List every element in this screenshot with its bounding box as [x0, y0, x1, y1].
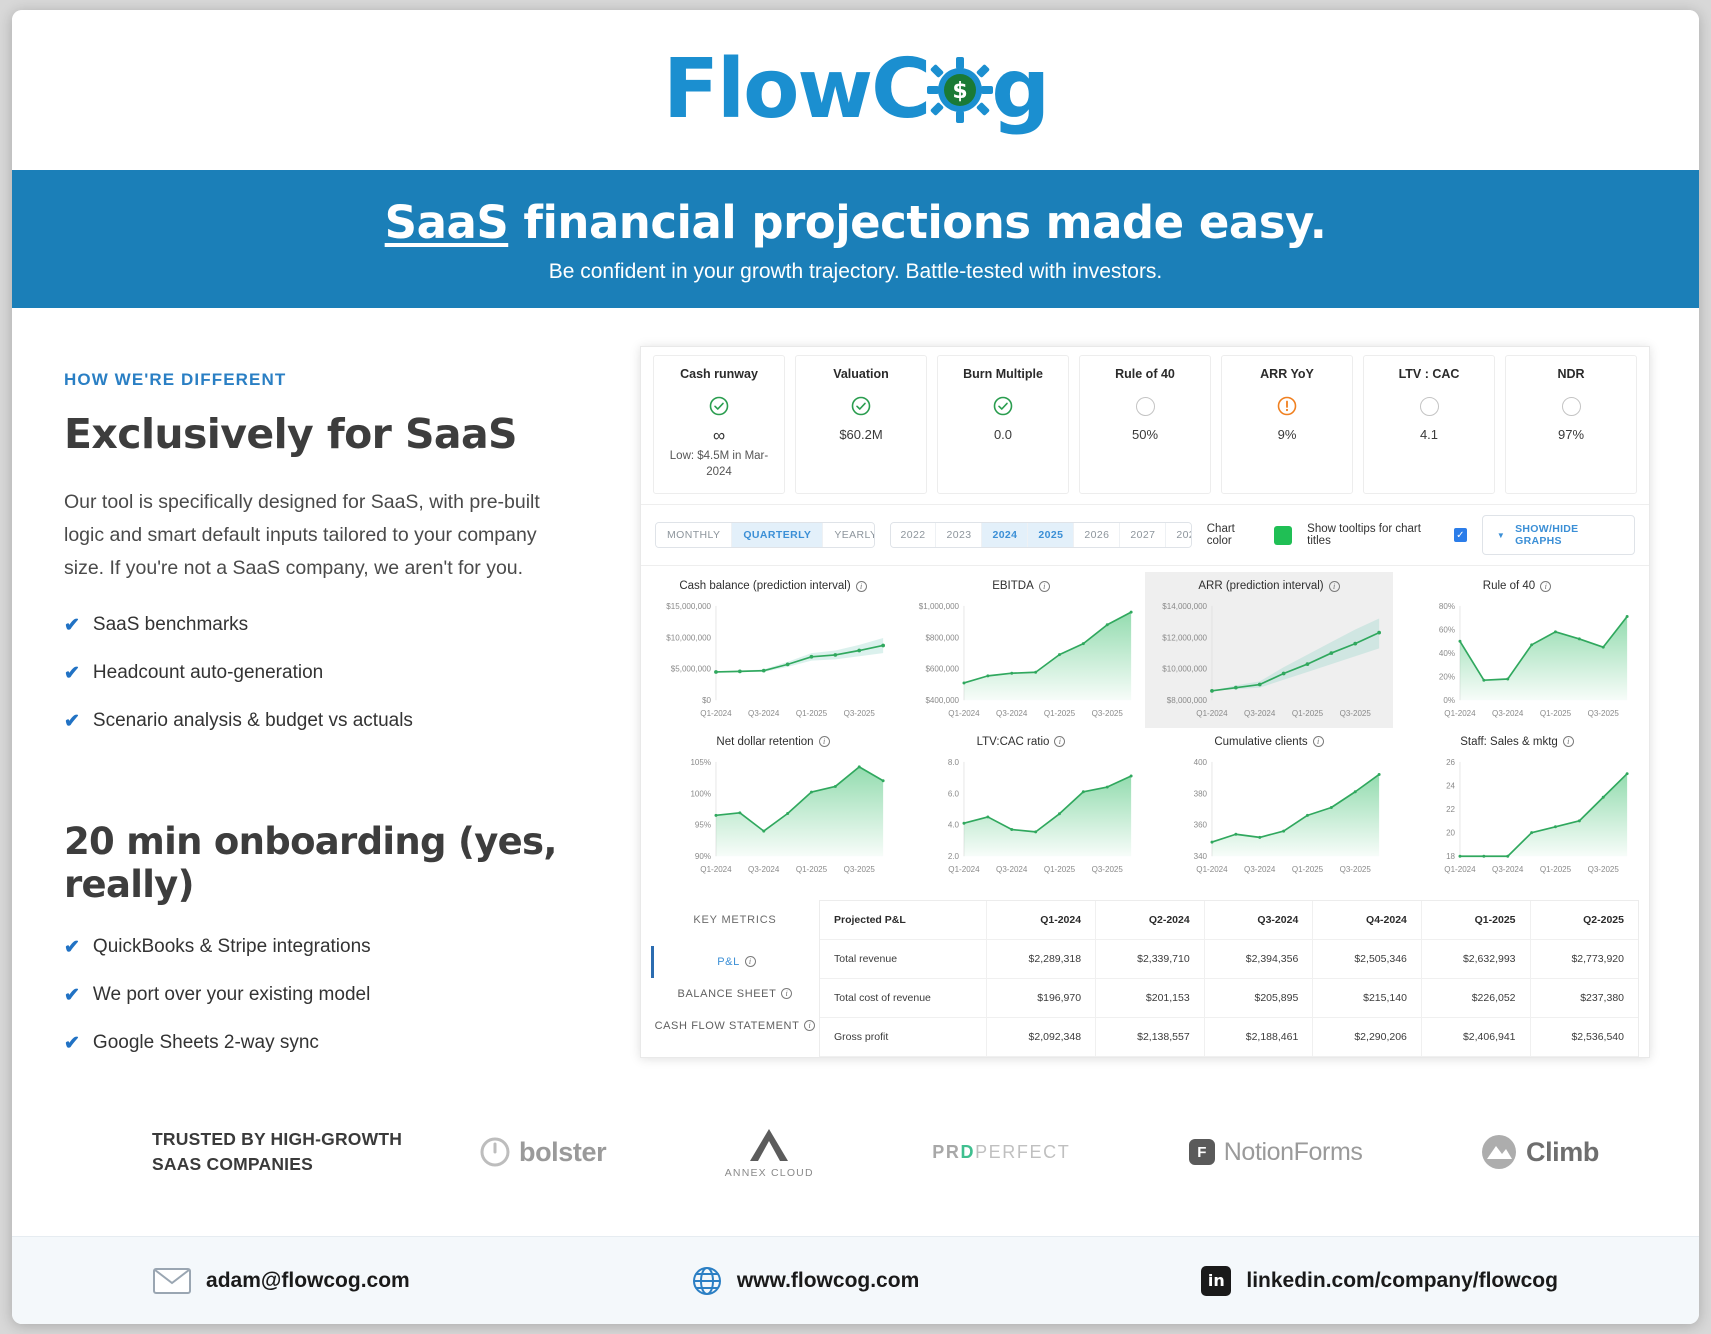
period-option-yearly[interactable]: YEARLY — [823, 523, 874, 547]
year-option-2025[interactable]: 2025 — [1028, 523, 1074, 547]
feature-list-2: ✔QuickBooks & Stripe integrations ✔We po… — [64, 936, 576, 1054]
trusted-by-label: TRUSTED BY HIGH-GROWTH SAAS COMPANIES — [152, 1127, 452, 1178]
svg-text:Q3-2025: Q3-2025 — [844, 865, 876, 874]
pl-table: Projected P&LQ1-2024Q2-2024Q3-2024Q4-202… — [820, 901, 1638, 1057]
check-icon: ✔ — [64, 1034, 80, 1053]
svg-text:$14,000,000: $14,000,000 — [1162, 602, 1207, 611]
svg-text:Q1-2025: Q1-2025 — [1540, 709, 1572, 718]
svg-text:Q1-2024: Q1-2024 — [948, 865, 980, 874]
check-icon: ✔ — [64, 616, 80, 635]
chart-title: Rule of 40 — [1483, 580, 1535, 592]
chart-title-row: Rule of 40i — [1399, 580, 1635, 592]
chart-card[interactable]: Rule of 40i0%20%40%60%80%Q1-2024Q3-2024Q… — [1393, 572, 1641, 728]
svg-text:60%: 60% — [1439, 625, 1455, 634]
check-icon: ✔ — [64, 986, 80, 1005]
year-option-2022[interactable]: 2022 — [891, 523, 937, 547]
feature-list-1: ✔SaaS benchmarks ✔Headcount auto-generat… — [64, 614, 576, 732]
chart-plot: 340360380400Q1-2024Q3-2024Q1-2025Q3-2025 — [1151, 754, 1387, 880]
spacer — [64, 758, 576, 820]
chart-title-row: LTV:CAC ratioi — [903, 736, 1139, 748]
table-cell: $2,092,348 — [987, 1017, 1096, 1056]
svg-text:340: 340 — [1194, 852, 1208, 861]
svg-text:Q3-2025: Q3-2025 — [844, 709, 876, 718]
svg-text:0%: 0% — [1443, 696, 1455, 705]
svg-text:Q3-2024: Q3-2024 — [1244, 865, 1276, 874]
svg-text:105%: 105% — [690, 758, 711, 767]
chart-title-row: Cumulative clientsi — [1151, 736, 1387, 748]
kpi-card[interactable]: ARR YoY9% — [1221, 355, 1353, 494]
svg-text:18: 18 — [1446, 852, 1455, 861]
table-row-label: Total revenue — [820, 939, 987, 978]
check-icon: ✔ — [64, 712, 80, 731]
kpi-value: $60.2M — [800, 427, 922, 442]
table-column-header: Q1-2024 — [987, 901, 1096, 940]
kpi-strip: Cash runway∞Low: $4.5M in Mar-2024Valuat… — [641, 347, 1649, 505]
feature-label: We port over your existing model — [93, 984, 370, 1006]
table-column-header: Q3-2024 — [1204, 901, 1313, 940]
kpi-title: ARR YoY — [1226, 367, 1348, 381]
year-option-2023[interactable]: 2023 — [936, 523, 982, 547]
hero-headline-underlined: SaaS — [385, 196, 509, 249]
year-option-2024[interactable]: 2024 — [982, 523, 1028, 547]
left-column: HOW WE'RE DIFFERENT Exclusively for SaaS… — [12, 308, 632, 1088]
table-row-label: Total cost of revenue — [820, 978, 987, 1017]
section-heading-2: 20 min onboarding (yes, really) — [64, 820, 576, 906]
main-content: HOW WE'RE DIFFERENT Exclusively for SaaS… — [12, 308, 1699, 1088]
kpi-status-icon — [658, 393, 780, 419]
svg-text:100%: 100% — [690, 789, 711, 798]
footer-website-text: www.flowcog.com — [737, 1269, 919, 1293]
info-icon[interactable]: i — [1329, 581, 1340, 592]
table-cell: $2,394,356 — [1204, 939, 1313, 978]
section-paragraph: Our tool is specifically designed for Sa… — [64, 486, 576, 584]
globe-icon — [692, 1266, 722, 1296]
partner-name-part1: PR — [932, 1142, 960, 1162]
svg-text:Q1-2024: Q1-2024 — [1444, 709, 1476, 718]
pl-table-wrapper: Projected P&LQ1-2024Q2-2024Q3-2024Q4-202… — [819, 900, 1639, 1057]
list-item: ✔SaaS benchmarks — [64, 614, 576, 636]
svg-text:Q3-2025: Q3-2025 — [1340, 865, 1372, 874]
contact-footer: adam@flowcog.com www.flowcog.com in link… — [12, 1236, 1699, 1324]
table-row-label: Gross profit — [820, 1017, 987, 1056]
kpi-value: 97% — [1510, 427, 1632, 442]
table-cell: $205,895 — [1204, 978, 1313, 1017]
tooltip-checkbox[interactable]: ✓ — [1454, 528, 1467, 542]
list-item: ✔Scenario analysis & budget vs actuals — [64, 710, 576, 732]
footer-email-text: adam@flowcog.com — [206, 1269, 410, 1293]
tooltip-toggle-label: Show tooltips for chart titles — [1307, 523, 1439, 547]
hero-headline: SaaS financial projections made easy. — [12, 196, 1699, 249]
svg-text:Q1-2024: Q1-2024 — [700, 709, 732, 718]
svg-text:95%: 95% — [695, 821, 711, 830]
chart-color-swatch[interactable] — [1274, 526, 1292, 545]
svg-text:Q3-2024: Q3-2024 — [1492, 865, 1524, 874]
chart-plot: $400,000$600,000$800,000$1,000,000Q1-202… — [903, 598, 1139, 724]
info-icon[interactable]: i — [781, 988, 792, 999]
logo-text-part2: g — [991, 49, 1048, 131]
svg-text:Q3-2025: Q3-2025 — [1588, 709, 1620, 718]
kpi-card[interactable]: Cash runway∞Low: $4.5M in Mar-2024 — [653, 355, 785, 494]
check-icon: ✔ — [64, 938, 80, 957]
chart-title: ARR (prediction interval) — [1198, 580, 1323, 592]
svg-text:$10,000,000: $10,000,000 — [666, 633, 711, 642]
chart-card[interactable]: Cumulative clientsi340360380400Q1-2024Q3… — [1145, 728, 1393, 884]
info-icon[interactable]: i — [1563, 736, 1574, 747]
table-column-header: Q2-2025 — [1530, 901, 1638, 940]
svg-text:400: 400 — [1194, 758, 1208, 767]
chart-card[interactable]: EBITDAi$400,000$600,000$800,000$1,000,00… — [897, 572, 1145, 728]
trusted-by-section: TRUSTED BY HIGH-GROWTH SAAS COMPANIES bo… — [12, 1088, 1699, 1208]
period-option-quarterly[interactable]: QUARTERLY — [732, 523, 823, 547]
key-metrics-nav: KEY METRICS P&LiBALANCE SHEETiCASH FLOW … — [651, 900, 819, 1057]
table-row: Gross profit$2,092,348$2,138,557$2,188,4… — [820, 1017, 1638, 1056]
kpi-status-icon — [800, 393, 922, 419]
list-item: ✔We port over your existing model — [64, 984, 576, 1006]
chart-plot: 1820222426Q1-2024Q3-2024Q1-2025Q3-2025 — [1399, 754, 1635, 880]
table-cell: $2,289,318 — [987, 939, 1096, 978]
chart-title: Net dollar retention — [716, 736, 813, 748]
notionforms-badge-icon: F — [1189, 1139, 1215, 1165]
svg-text:Q3-2024: Q3-2024 — [996, 709, 1028, 718]
svg-text:90%: 90% — [695, 852, 711, 861]
kpi-status-icon — [1084, 393, 1206, 419]
chart-plot: 2.04.06.08.0Q1-2024Q3-2024Q1-2025Q3-2025 — [903, 754, 1139, 880]
period-toggle-group[interactable]: MONTHLYQUARTERLYYEARLY — [655, 522, 875, 548]
chart-card[interactable]: LTV:CAC ratioi2.04.06.08.0Q1-2024Q3-2024… — [897, 728, 1145, 884]
table-cell: $237,380 — [1530, 978, 1638, 1017]
envelope-icon — [153, 1267, 191, 1295]
chart-plot: 90%95%100%105%Q1-2024Q3-2024Q1-2025Q3-20… — [655, 754, 891, 880]
table-cell: $2,773,920 — [1530, 939, 1638, 978]
kpi-value: ∞ — [658, 427, 780, 444]
svg-text:Q1-2024: Q1-2024 — [1444, 865, 1476, 874]
partner-name: bolster — [519, 1137, 606, 1168]
table-row: Total revenue$2,289,318$2,339,710$2,394,… — [820, 939, 1638, 978]
svg-text:$10,000,000: $10,000,000 — [1162, 665, 1207, 674]
svg-text:Q3-2024: Q3-2024 — [1244, 709, 1276, 718]
key-metrics-section: KEY METRICS P&LiBALANCE SHEETiCASH FLOW … — [641, 888, 1649, 1057]
chart-card[interactable]: Staff: Sales & mktgi1820222426Q1-2024Q3-… — [1393, 728, 1641, 884]
svg-text:Q1-2025: Q1-2025 — [1044, 709, 1076, 718]
table-cell: $201,153 — [1096, 978, 1205, 1017]
kpi-status-icon — [1510, 393, 1632, 419]
svg-text:20: 20 — [1446, 829, 1455, 838]
kpi-status-icon — [1368, 393, 1490, 419]
key-metrics-items: P&LiBALANCE SHEETiCASH FLOW STATEMENTi — [651, 946, 819, 1042]
kpi-value: 0.0 — [942, 427, 1064, 442]
partner-logo-notionforms: F NotionForms — [1189, 1138, 1363, 1167]
chart-title-row: Cash balance (prediction interval)i — [655, 580, 891, 592]
chart-plot: $8,000,000$10,000,000$12,000,000$14,000,… — [1151, 598, 1387, 724]
kpi-value: 4.1 — [1368, 427, 1490, 442]
table-column-header: Q4-2024 — [1313, 901, 1422, 940]
list-item: ✔QuickBooks & Stripe integrations — [64, 936, 576, 958]
key-metric-item-cash-flow-statement[interactable]: CASH FLOW STATEMENTi — [651, 1010, 819, 1042]
feature-label: Headcount auto-generation — [93, 662, 323, 684]
partner-name-part2: D — [960, 1142, 975, 1162]
section-heading: Exclusively for SaaS — [64, 410, 576, 458]
svg-text:Q1-2024: Q1-2024 — [1196, 865, 1228, 874]
footer-website[interactable]: www.flowcog.com — [692, 1266, 919, 1296]
svg-text:Q1-2025: Q1-2025 — [796, 865, 828, 874]
info-icon[interactable]: i — [856, 581, 867, 592]
linkedin-icon: in — [1201, 1266, 1231, 1296]
key-metrics-header: KEY METRICS — [651, 914, 819, 926]
chart-title: Cumulative clients — [1214, 736, 1307, 748]
kpi-value: 9% — [1226, 427, 1348, 442]
info-icon[interactable]: i — [1039, 581, 1050, 592]
chart-plot: $0$5,000,000$10,000,000$15,000,000Q1-202… — [655, 598, 891, 724]
product-screenshot: Cash runway∞Low: $4.5M in Mar-2024Valuat… — [640, 346, 1650, 1058]
svg-text:$12,000,000: $12,000,000 — [1162, 633, 1207, 642]
list-item: ✔Google Sheets 2-way sync — [64, 1032, 576, 1054]
key-metric-label: BALANCE SHEET — [678, 988, 777, 1000]
svg-text:$0: $0 — [702, 696, 711, 705]
chart-title: Staff: Sales & mktg — [1460, 736, 1558, 748]
kpi-card[interactable]: LTV : CAC4.1 — [1363, 355, 1495, 494]
partner-name: NotionForms — [1224, 1138, 1363, 1167]
table-body: Total revenue$2,289,318$2,339,710$2,394,… — [820, 939, 1638, 1056]
partner-logos: bolster ANNEX CLOUD PRDPERFECT F NotionF… — [480, 1126, 1639, 1179]
svg-text:Q3-2024: Q3-2024 — [748, 709, 780, 718]
chart-title-row: EBITDAi — [903, 580, 1139, 592]
climb-mountain-icon — [1481, 1134, 1517, 1170]
svg-text:$600,000: $600,000 — [925, 665, 959, 674]
partner-name: ANNEX CLOUD — [725, 1167, 814, 1179]
chart-card[interactable]: ARR (prediction interval)i$8,000,000$10,… — [1145, 572, 1393, 728]
svg-text:6.0: 6.0 — [948, 789, 960, 798]
key-metric-label: CASH FLOW STATEMENT — [655, 1020, 800, 1032]
show-hide-graphs-dropdown[interactable]: ▼ SHOW/HIDE GRAPHS — [1482, 515, 1635, 555]
svg-text:Q1-2025: Q1-2025 — [1292, 709, 1324, 718]
table-column-header: Q2-2024 — [1096, 901, 1205, 940]
kpi-title: Burn Multiple — [942, 367, 1064, 381]
svg-text:Q3-2024: Q3-2024 — [1492, 709, 1524, 718]
bolster-mark-icon — [480, 1137, 510, 1167]
svg-text:Q1-2025: Q1-2025 — [1044, 865, 1076, 874]
hero-subheadline: Be confident in your growth trajectory. … — [12, 260, 1699, 284]
kpi-card[interactable]: Burn Multiple0.0 — [937, 355, 1069, 494]
feature-label: Google Sheets 2-way sync — [93, 1032, 319, 1054]
info-icon[interactable]: i — [1054, 736, 1065, 747]
trusted-by-line1: TRUSTED BY HIGH-GROWTH — [152, 1127, 452, 1152]
annex-triangle-icon — [747, 1126, 791, 1164]
svg-text:$1,000,000: $1,000,000 — [919, 602, 960, 611]
kpi-title: LTV : CAC — [1368, 367, 1490, 381]
table-cell: $2,632,993 — [1421, 939, 1530, 978]
svg-text:20%: 20% — [1439, 673, 1455, 682]
kpi-card[interactable]: NDR97% — [1505, 355, 1637, 494]
kpi-card[interactable]: Rule of 4050% — [1079, 355, 1211, 494]
key-metric-item-p-l[interactable]: P&Li — [651, 946, 819, 978]
year-option-2027[interactable]: 2027 — [1120, 523, 1166, 547]
chevron-down-icon: ▼ — [1497, 531, 1505, 540]
kpi-subtext: Low: $4.5M in Mar-2024 — [658, 449, 780, 480]
svg-text:24: 24 — [1446, 781, 1455, 790]
svg-text:$15,000,000: $15,000,000 — [666, 602, 711, 611]
partner-logo-bolster: bolster — [480, 1137, 606, 1168]
show-hide-graphs-label: SHOW/HIDE GRAPHS — [1515, 523, 1620, 547]
table-corner-header: Projected P&L — [820, 901, 987, 940]
partner-logo-annex-cloud: ANNEX CLOUD — [725, 1126, 814, 1179]
table-cell: $2,188,461 — [1204, 1017, 1313, 1056]
year-option-2026[interactable]: 2026 — [1074, 523, 1120, 547]
right-column: Cash runway∞Low: $4.5M in Mar-2024Valuat… — [632, 308, 1699, 1088]
svg-text:$8,000,000: $8,000,000 — [1167, 696, 1208, 705]
table-cell: $2,138,557 — [1096, 1017, 1205, 1056]
key-metric-item-balance-sheet[interactable]: BALANCE SHEETi — [651, 978, 819, 1010]
period-option-monthly[interactable]: MONTHLY — [656, 523, 732, 547]
status-ring-icon — [1136, 397, 1155, 416]
kpi-status-icon — [1226, 393, 1348, 419]
info-icon[interactable]: i — [804, 1020, 815, 1031]
table-row: Total cost of revenue$196,970$201,153$20… — [820, 978, 1638, 1017]
svg-text:Q3-2025: Q3-2025 — [1588, 865, 1620, 874]
footer-linkedin-text: linkedin.com/company/flowcog — [1246, 1269, 1558, 1293]
status-ring-icon — [1420, 397, 1439, 416]
kpi-title: NDR — [1510, 367, 1632, 381]
svg-text:Q3-2025: Q3-2025 — [1340, 709, 1372, 718]
chart-card[interactable]: Cash balance (prediction interval)i$0$5,… — [649, 572, 897, 728]
svg-text:360: 360 — [1194, 821, 1208, 830]
kpi-value: 50% — [1084, 427, 1206, 442]
kpi-status-icon — [942, 393, 1064, 419]
svg-text:Q3-2025: Q3-2025 — [1092, 865, 1124, 874]
footer-linkedin[interactable]: in linkedin.com/company/flowcog — [1201, 1266, 1558, 1296]
kpi-card[interactable]: Valuation$60.2M — [795, 355, 927, 494]
svg-text:40%: 40% — [1439, 649, 1455, 658]
svg-text:$: $ — [953, 79, 968, 104]
table-header-row: Projected P&LQ1-2024Q2-2024Q3-2024Q4-202… — [820, 901, 1638, 940]
dashboard-toolbar: MONTHLYQUARTERLYYEARLY 20222023202420252… — [641, 505, 1649, 566]
svg-text:Q1-2024: Q1-2024 — [700, 865, 732, 874]
svg-text:Q1-2025: Q1-2025 — [796, 709, 828, 718]
hero-banner: SaaS financial projections made easy. Be… — [12, 170, 1699, 308]
chart-title-row: Staff: Sales & mktgi — [1399, 736, 1635, 748]
poster-page: FlowC — [12, 10, 1699, 1324]
logo-bar: FlowC — [12, 10, 1699, 170]
chart-title: Cash balance (prediction interval) — [679, 580, 850, 592]
svg-text:Q3-2024: Q3-2024 — [996, 865, 1028, 874]
section-kicker: HOW WE'RE DIFFERENT — [64, 370, 576, 390]
table-cell: $2,536,540 — [1530, 1017, 1638, 1056]
table-column-header: Q1-2025 — [1421, 901, 1530, 940]
chart-title-row: ARR (prediction interval)i — [1151, 580, 1387, 592]
svg-text:$400,000: $400,000 — [925, 696, 959, 705]
info-icon[interactable]: i — [819, 736, 830, 747]
status-ring-icon — [1562, 397, 1581, 416]
chart-card[interactable]: Net dollar retentioni90%95%100%105%Q1-20… — [649, 728, 897, 884]
kpi-title: Rule of 40 — [1084, 367, 1206, 381]
partner-logo-prodperfect: PRDPERFECT — [932, 1142, 1070, 1163]
chart-title: LTV:CAC ratio — [977, 736, 1050, 748]
feature-label: Scenario analysis & budget vs actuals — [93, 710, 413, 732]
key-metric-label: P&L — [717, 956, 740, 968]
table-cell: $215,140 — [1313, 978, 1422, 1017]
table-cell: $226,052 — [1421, 978, 1530, 1017]
partner-logo-climb: Climb — [1481, 1134, 1599, 1170]
check-icon: ✔ — [64, 664, 80, 683]
footer-email[interactable]: adam@flowcog.com — [153, 1267, 410, 1295]
table-cell: $2,406,941 — [1421, 1017, 1530, 1056]
svg-text:22: 22 — [1446, 805, 1455, 814]
feature-label: QuickBooks & Stripe integrations — [93, 936, 371, 958]
feature-label: SaaS benchmarks — [93, 614, 248, 636]
svg-text:Q1-2025: Q1-2025 — [1292, 865, 1324, 874]
chart-plot: 0%20%40%60%80%Q1-2024Q3-2024Q1-2025Q3-20… — [1399, 598, 1635, 724]
logo-text-part1: FlowC — [663, 49, 929, 131]
svg-text:$800,000: $800,000 — [925, 633, 959, 642]
svg-text:2.0: 2.0 — [948, 852, 960, 861]
info-icon[interactable]: i — [1313, 736, 1324, 747]
hero-headline-rest: financial projections made easy. — [508, 196, 1326, 249]
table-cell: $196,970 — [987, 978, 1096, 1017]
partner-name-part3: PERFECT — [975, 1142, 1070, 1162]
table-cell: $2,339,710 — [1096, 939, 1205, 978]
year-option-2028[interactable]: 2028 — [1166, 523, 1191, 547]
list-item: ✔Headcount auto-generation — [64, 662, 576, 684]
charts-grid: Cash balance (prediction interval)i$0$5,… — [641, 566, 1649, 888]
svg-text:Q1-2024: Q1-2024 — [948, 709, 980, 718]
svg-text:380: 380 — [1194, 789, 1208, 798]
info-icon[interactable]: i — [1540, 581, 1551, 592]
svg-text:8.0: 8.0 — [948, 758, 960, 767]
kpi-title: Valuation — [800, 367, 922, 381]
chart-color-label: Chart color — [1207, 523, 1260, 547]
table-cell: $2,290,206 — [1313, 1017, 1422, 1056]
trusted-by-line2: SAAS COMPANIES — [152, 1152, 452, 1177]
svg-text:26: 26 — [1446, 758, 1455, 767]
svg-text:Q1-2024: Q1-2024 — [1196, 709, 1228, 718]
svg-text:Q3-2025: Q3-2025 — [1092, 709, 1124, 718]
chart-title-row: Net dollar retentioni — [655, 736, 891, 748]
svg-text:80%: 80% — [1439, 602, 1455, 611]
svg-text:$5,000,000: $5,000,000 — [671, 665, 712, 674]
info-icon[interactable]: i — [745, 956, 756, 967]
chart-title: EBITDA — [992, 580, 1034, 592]
svg-text:4.0: 4.0 — [948, 821, 960, 830]
svg-text:Q1-2025: Q1-2025 — [1540, 865, 1572, 874]
table-cell: $2,505,346 — [1313, 939, 1422, 978]
partner-name: Climb — [1526, 1137, 1599, 1168]
year-selector-group[interactable]: 2022202320242025202620272028 — [890, 522, 1192, 548]
cog-dollar-icon: $ — [927, 57, 993, 123]
kpi-title: Cash runway — [658, 367, 780, 381]
flowcog-logo: FlowC — [663, 49, 1048, 131]
svg-text:Q3-2024: Q3-2024 — [748, 865, 780, 874]
